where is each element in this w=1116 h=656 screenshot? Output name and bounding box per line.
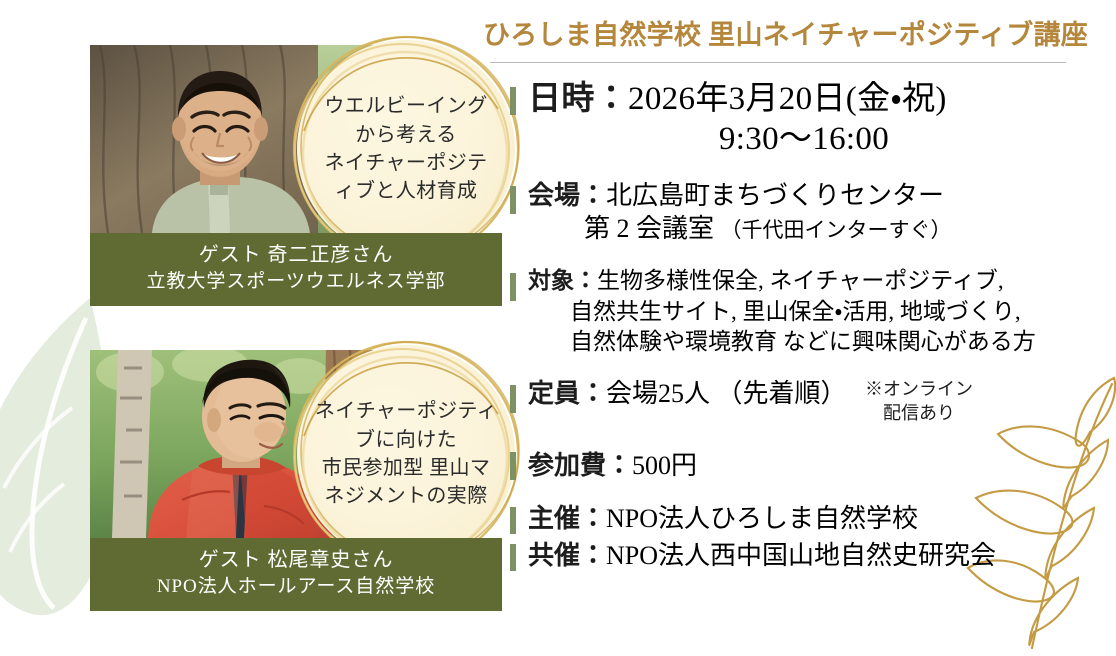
info-row-fee: 参加費：500円 bbox=[510, 445, 1110, 482]
info-list: 日時：2026年3月20日(金・祝) 9:30〜16:00 会場：北広島町まちづ… bbox=[510, 80, 1110, 576]
guests-column: ウエルビーイング から考える ネイチャーポジテ ィブと人材育成 ゲスト 奇二正彦… bbox=[0, 0, 500, 646]
venue-access-note: （千代田インターすぐ） bbox=[721, 218, 952, 242]
info-row-datetime: 日時：2026年3月20日(金・祝) 9:30〜16:00 bbox=[510, 80, 1110, 159]
fee-value: 500円 bbox=[632, 451, 697, 480]
guest-affiliation-1: 立教大学スポーツウエルネス学部 bbox=[90, 269, 502, 295]
info-row-target: 対象：生物多様性保全, ネイチャーポジティブ, 自然共生サイト, 里山保全・活用… bbox=[510, 266, 1110, 358]
info-row-capacity: 定員：会場25人 （先着順） ※オンライン 配信あり bbox=[510, 378, 1110, 425]
capacity-label: 定員： bbox=[528, 379, 606, 408]
datetime-time: 9:30〜16:00 bbox=[528, 120, 1110, 160]
title-divider bbox=[490, 62, 1066, 63]
page-title: ひろしま自然学校 里山ネイチャーポジティブ講座 bbox=[483, 13, 1083, 52]
venue-value: 北広島町まちづくりセンター bbox=[606, 181, 944, 210]
target-line-2: 自然共生サイト, 里山保全・活用, 地域づくり, bbox=[528, 297, 1110, 328]
guest-card-2: ネイチャーポジティ ブに向けた 市民参加型 里山マ ネジメントの実際 ゲスト 松… bbox=[90, 350, 502, 611]
cohost-label: 共催： bbox=[528, 541, 606, 570]
venue-label: 会場： bbox=[528, 181, 606, 210]
datetime-label: 日時： bbox=[528, 81, 628, 117]
info-row-venue: 会場：北広島町まちづくりセンター 第 2 会議室 （千代田インターすぐ） bbox=[510, 179, 1110, 246]
datetime-value: 2026年3月20日(金・祝) bbox=[628, 81, 947, 117]
guest-name-2: ゲスト 松尾章史さん bbox=[90, 547, 502, 574]
guest-banner-2: ゲスト 松尾章史さん NPO法人ホールアース自然学校 bbox=[90, 538, 502, 611]
fee-label: 参加費： bbox=[528, 451, 632, 480]
host-value: NPO法人ひろしま自然学校 bbox=[606, 504, 918, 533]
cohost-value: NPO法人西中国山地自然史研究会 bbox=[606, 541, 996, 570]
online-note-line-1: ※オンライン bbox=[865, 378, 973, 401]
guest-affiliation-2: NPO法人ホールアース自然学校 bbox=[90, 574, 502, 600]
capacity-value: 会場25人 （先着順） bbox=[606, 379, 847, 408]
event-info-column: ひろしま自然学校 里山ネイチャーポジティブ講座 日時：2026年3月20日(金・… bbox=[478, 0, 1116, 646]
guest-card-1: ウエルビーイング から考える ネイチャーポジテ ィブと人材育成 ゲスト 奇二正彦… bbox=[90, 45, 502, 306]
target-label: 対象： bbox=[528, 268, 597, 293]
host-label: 主催： bbox=[528, 504, 606, 533]
info-row-host: 主催：NPO法人ひろしま自然学校 bbox=[510, 502, 1110, 537]
online-note-line-2: 配信あり bbox=[865, 402, 973, 425]
guest-banner-1: ゲスト 奇二正彦さん 立教大学スポーツウエルネス学部 bbox=[90, 233, 502, 306]
guest-name-1: ゲスト 奇二正彦さん bbox=[90, 242, 502, 269]
target-line-1: 生物多様性保全, ネイチャーポジティブ, bbox=[597, 268, 1004, 293]
target-line-3: 自然体験や環境教育 などに興味関心がある方 bbox=[528, 327, 1110, 358]
venue-room: 第 2 会議室 bbox=[584, 214, 714, 243]
organizers-block: 主催：NPO法人ひろしま自然学校 共催：NPO法人西中国山地自然史研究会 bbox=[510, 502, 1110, 574]
online-streaming-note: ※オンライン 配信あり bbox=[865, 378, 973, 425]
info-row-cohost: 共催：NPO法人西中国山地自然史研究会 bbox=[510, 539, 1110, 574]
